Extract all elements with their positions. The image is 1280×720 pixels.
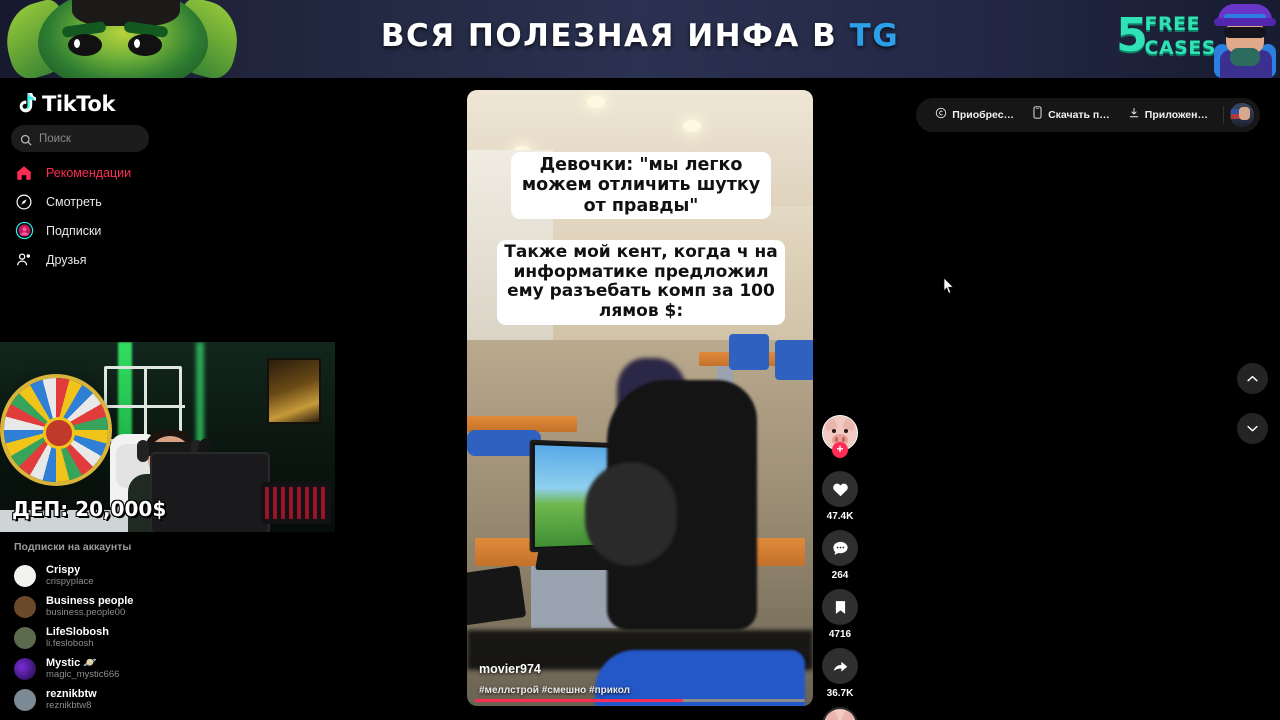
banner-tg-text: TG [850,18,900,54]
sidebar-item-friends[interactable]: Друзья [0,245,360,274]
video-hashtags[interactable]: #меллстрой #смешно #прикол [479,685,813,696]
chevron-down-icon[interactable] [1237,413,1268,444]
sidebar-label-explore: Смотреть [46,195,102,209]
tiktok-note-icon [14,92,36,116]
video-player[interactable]: Девочки: "мы легко можем отличить шутку … [467,90,813,706]
video-frame: Девочки: "мы легко можем отличить шутку … [467,90,813,706]
author-avatar-with-follow[interactable]: + [822,415,858,451]
sidebar-label-friends: Друзья [46,253,87,267]
promo-line-1: FREE [1145,12,1217,36]
video-caption-1: Девочки: "мы легко можем отличить шутку … [511,152,771,219]
tiktok-page: ВСЯ ПОЛЕЗНАЯ ИНФА В TG 5 FREE CASES [0,0,1280,720]
share-icon[interactable] [822,648,858,684]
monitor [150,452,270,532]
promo-line-2: CASES [1145,36,1217,60]
sidebar-item-recommendations[interactable]: Рекомендации [0,158,360,187]
list-item[interactable]: Crispy crispyplace [0,560,360,591]
compass-icon [14,192,34,212]
follow-button[interactable]: + [832,442,848,458]
avatar [14,658,36,680]
promo-text: FREE CASES [1145,12,1217,60]
account-name: Mystic 🪐 [46,657,119,669]
account-handle: crispyplace [46,576,94,588]
account-handle: li.feslobosh [46,638,109,650]
account-name: LifeSlobosh [46,626,109,638]
home-icon [14,163,34,183]
wall-poster [267,358,321,424]
music-disc[interactable] [822,707,858,720]
avatar [14,627,36,649]
sidebar: TikTok Поиск Рекомендации Смотреть [0,78,360,720]
stream-overlay-thumbnail[interactable]: ДЕП: 20,000$ [0,342,335,532]
mouse-pointer [943,277,955,295]
video-author-username[interactable]: movier974 [479,662,813,676]
list-item[interactable]: LifeSlobosh li.feslobosh [0,622,360,653]
account-name: reznikbtw [46,688,97,700]
video-action-rail: + 47.4K 264 4716 36.7K [822,415,858,720]
search-input[interactable]: Поиск [11,125,149,152]
sidebar-label-following: Подписки [46,224,101,238]
list-item[interactable]: reznikbtw reznikbtw8 [0,684,360,715]
account-name: Crispy [46,564,94,576]
share-action[interactable]: 36.7K [822,648,858,699]
account-handle: business.people00 [46,607,133,619]
download-app-button[interactable]: Скачать п… [1023,98,1119,132]
sidebar-label-recommendations: Рекомендации [46,166,131,180]
video-caption-2: Также мой кент, когда ч на информатике п… [497,240,785,325]
chevron-up-icon[interactable] [1237,363,1268,394]
avatar [14,565,36,587]
download-app-label: Скачать п… [1048,109,1110,121]
tiktok-logo-text: TikTok [42,92,115,116]
coin-icon [935,106,947,124]
comment-icon[interactable] [822,530,858,566]
banner-headline-text: ВСЯ ПОЛЕЗНАЯ ИНФА В [381,18,850,54]
following-avatar-icon [14,221,34,241]
account-handle: reznikbtw8 [46,700,97,712]
share-count: 36.7K [822,688,858,699]
get-coins-button[interactable]: Приобрес… [926,98,1023,132]
bookmark-count: 4716 [822,629,858,640]
casino-wheel-icon [4,378,108,482]
promo-number: 5 [1116,8,1148,62]
comment-count: 264 [822,570,858,581]
sidebar-item-following[interactable]: Подписки [0,216,360,245]
account-handle: magic_mystic666 [46,669,119,681]
sidebar-nav: Рекомендации Смотреть Подписки [0,158,360,274]
applications-button[interactable]: Приложен… [1119,98,1217,132]
phone-icon [1032,106,1043,124]
banner-right-art: 5 FREE CASES [1050,0,1280,78]
download-icon [1128,106,1140,124]
bandit-character-icon [1214,0,1276,78]
list-item[interactable]: Mystic 🪐 magic_mystic666 [0,653,360,684]
friends-icon [14,250,34,270]
avatar [14,596,36,618]
video-progress-bar[interactable] [475,699,805,702]
keyboard [261,482,331,524]
top-banner-ad[interactable]: ВСЯ ПОЛЕЗНАЯ ИНФА В TG 5 FREE CASES [0,0,1280,78]
header-actions: Приобрес… Скачать п… Приложен… [916,98,1260,132]
like-count: 47.4K [822,511,858,522]
search-icon [20,133,32,145]
bookmark-icon[interactable] [822,589,858,625]
sidebar-item-explore[interactable]: Смотреть [0,187,360,216]
bookmark-action[interactable]: 4716 [822,589,858,640]
applications-label: Приложен… [1145,109,1208,121]
accounts-title: Подписки на аккаунты [0,541,360,553]
followed-accounts: Подписки на аккаунты Crispy crispyplace … [0,541,360,720]
video-scroll-nav [1237,363,1268,463]
get-coins-label: Приобрес… [952,109,1014,121]
avatar [14,689,36,711]
heart-icon[interactable] [822,471,858,507]
list-item[interactable]: Business people business.people00 [0,591,360,622]
deposit-text: ДЕП: 20,000$ [12,497,166,521]
tiktok-logo[interactable]: TikTok [14,92,115,116]
comment-action[interactable]: 264 [822,530,858,581]
search-placeholder: Поиск [39,133,71,145]
user-avatar[interactable] [1230,103,1254,127]
divider [1223,106,1224,124]
account-name: Business people [46,595,133,607]
like-action[interactable]: 47.4K [822,471,858,522]
